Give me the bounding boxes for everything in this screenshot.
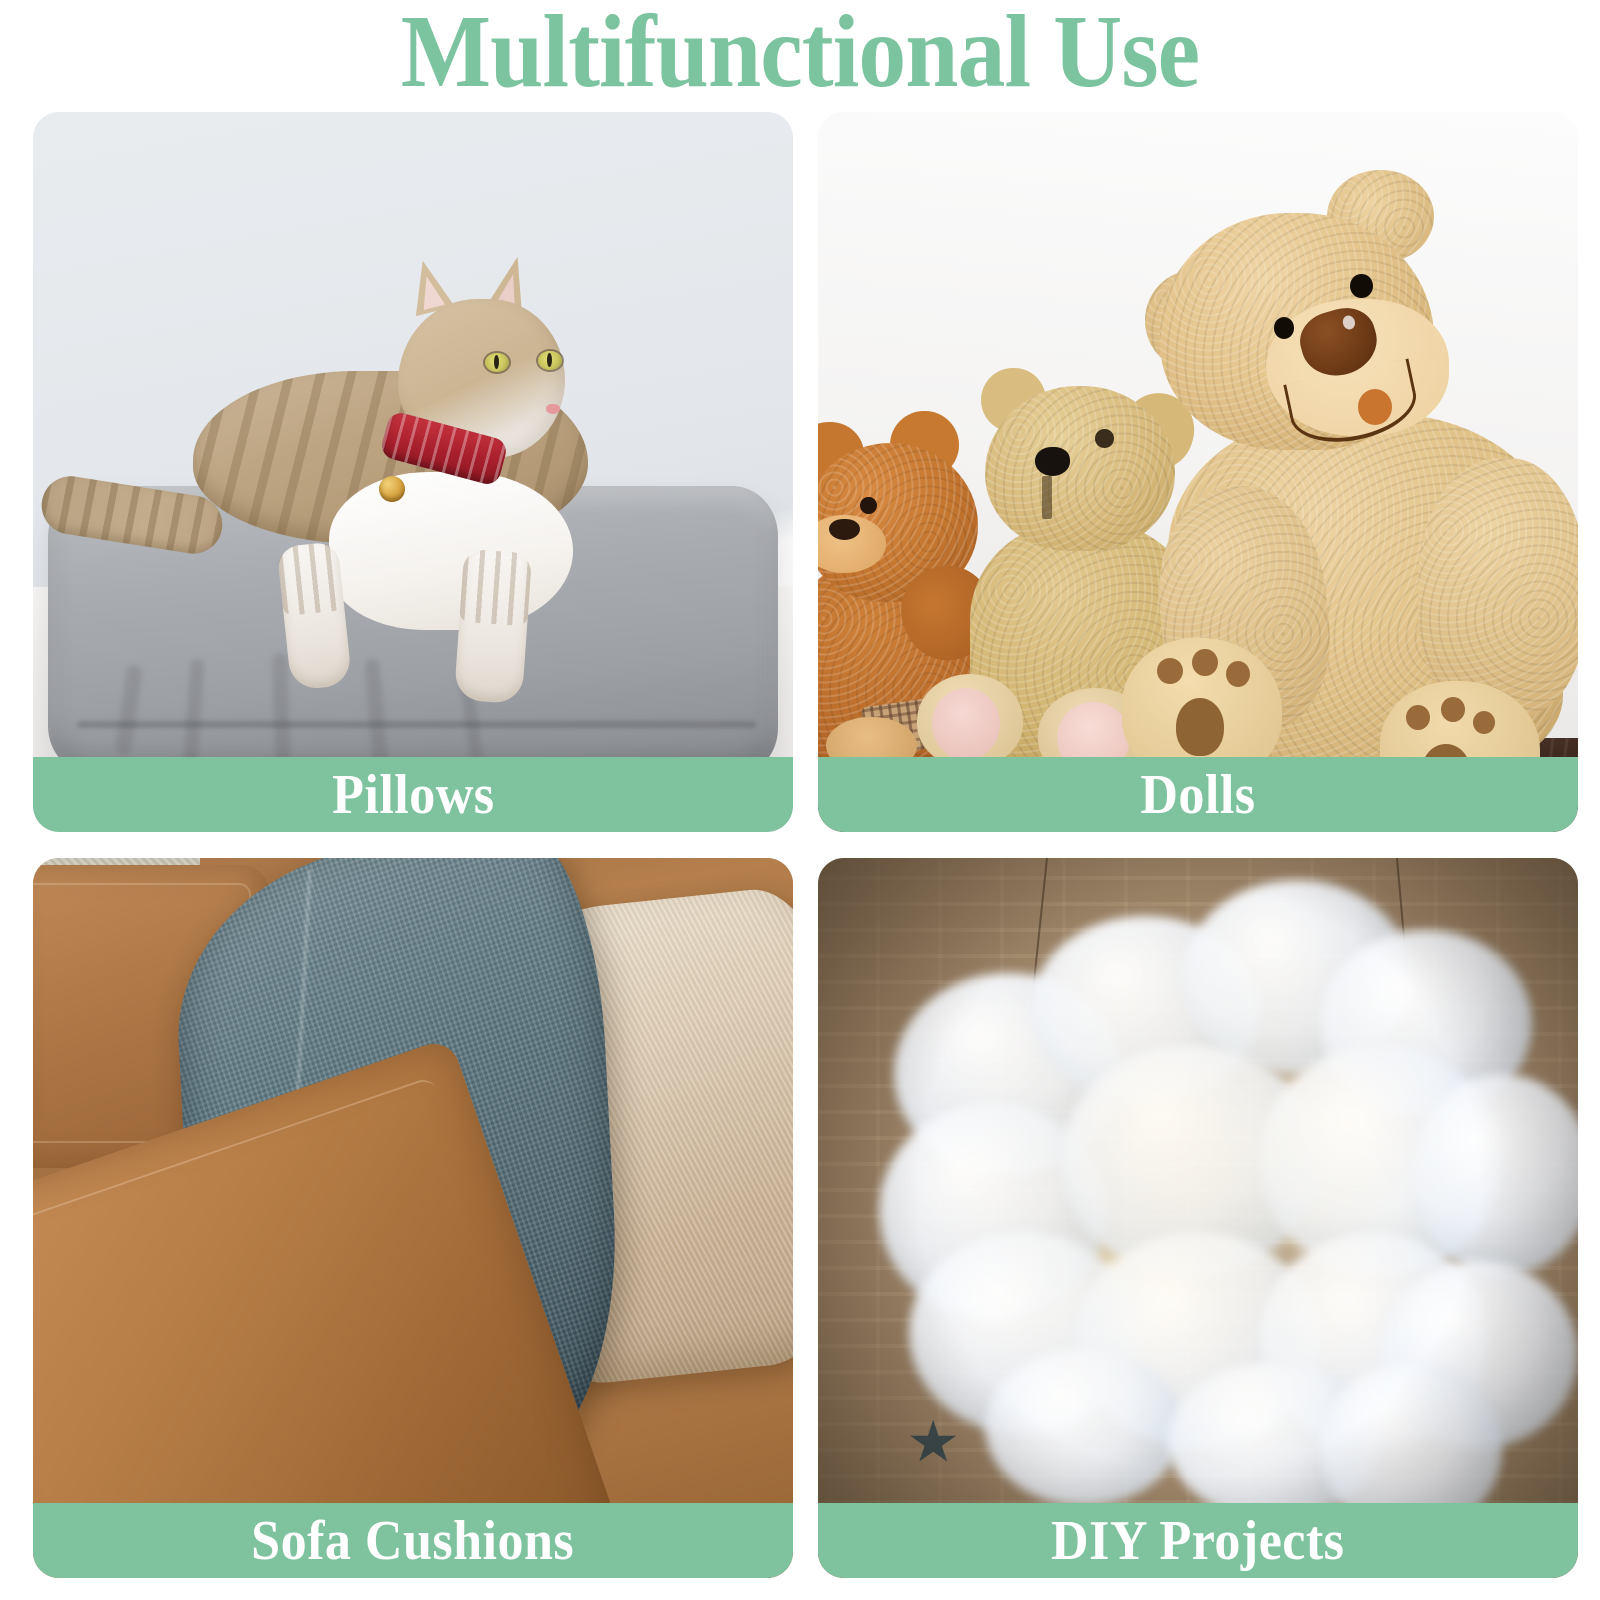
feature-card-sofa-cushions[interactable]: Sofa Cushions: [33, 858, 793, 1578]
card-caption-bar: Pillows: [33, 757, 793, 832]
card-caption-label: Dolls: [1140, 766, 1255, 824]
cat-paw-right: [453, 549, 532, 705]
card-caption-bar: DIY Projects: [818, 1503, 1578, 1578]
card-caption-bar: Dolls: [818, 757, 1578, 832]
paw-pad-toe: [1406, 705, 1430, 730]
pillow-fold: [115, 664, 143, 755]
bear-medium-head: [985, 386, 1175, 552]
pillow-fold: [364, 659, 389, 772]
bear-medium-pad-left: [932, 688, 1000, 760]
paw-pad-toe: [1441, 697, 1465, 722]
photo-vignette: [818, 858, 1578, 1578]
bear-medium-eye: [1095, 429, 1113, 448]
card-caption-label: DIY Projects: [1051, 1512, 1344, 1570]
cloud-lamp-photo: [818, 858, 1578, 1578]
card-caption-bar: Sofa Cushions: [33, 1503, 793, 1578]
product-feature-page: Multifunctional Use: [0, 0, 1600, 1600]
bear-large-arm-right: [1418, 458, 1578, 717]
bear-small-eye: [860, 497, 877, 514]
paw-pad-toe: [1157, 658, 1183, 684]
paw-pad-toe: [1473, 711, 1495, 734]
cat-on-pillow-photo: [33, 112, 793, 832]
paw-pad-main: [1176, 698, 1224, 756]
bear-large-eye-right: [1350, 274, 1373, 298]
feature-grid: Pillows: [33, 112, 1578, 1578]
paw-pad-toe: [1226, 661, 1250, 687]
page-title: Multifunctional Use: [64, 0, 1536, 108]
teddy-bears-photo: [818, 112, 1578, 832]
bear-large-eye-left: [1274, 317, 1294, 339]
feature-card-diy-projects[interactable]: DIY Projects: [818, 858, 1578, 1578]
bear-medium-muzzle-line: [1042, 476, 1052, 519]
feature-card-pillows[interactable]: Pillows: [33, 112, 793, 832]
paw-pad-toe: [1192, 649, 1218, 676]
cat-nose: [546, 404, 560, 414]
collar-bell: [379, 476, 405, 502]
cat-chest: [329, 472, 572, 630]
feature-card-dolls[interactable]: Dolls: [818, 112, 1578, 832]
bear-medium-nose: [1035, 447, 1070, 476]
bear-large-tongue: [1358, 389, 1392, 425]
pillow-fold: [183, 659, 205, 770]
pillow-fold: [272, 653, 291, 773]
card-caption-label: Pillows: [332, 766, 494, 824]
sofa-cushions-photo: [33, 858, 793, 1578]
card-caption-label: Sofa Cushions: [251, 1512, 574, 1570]
